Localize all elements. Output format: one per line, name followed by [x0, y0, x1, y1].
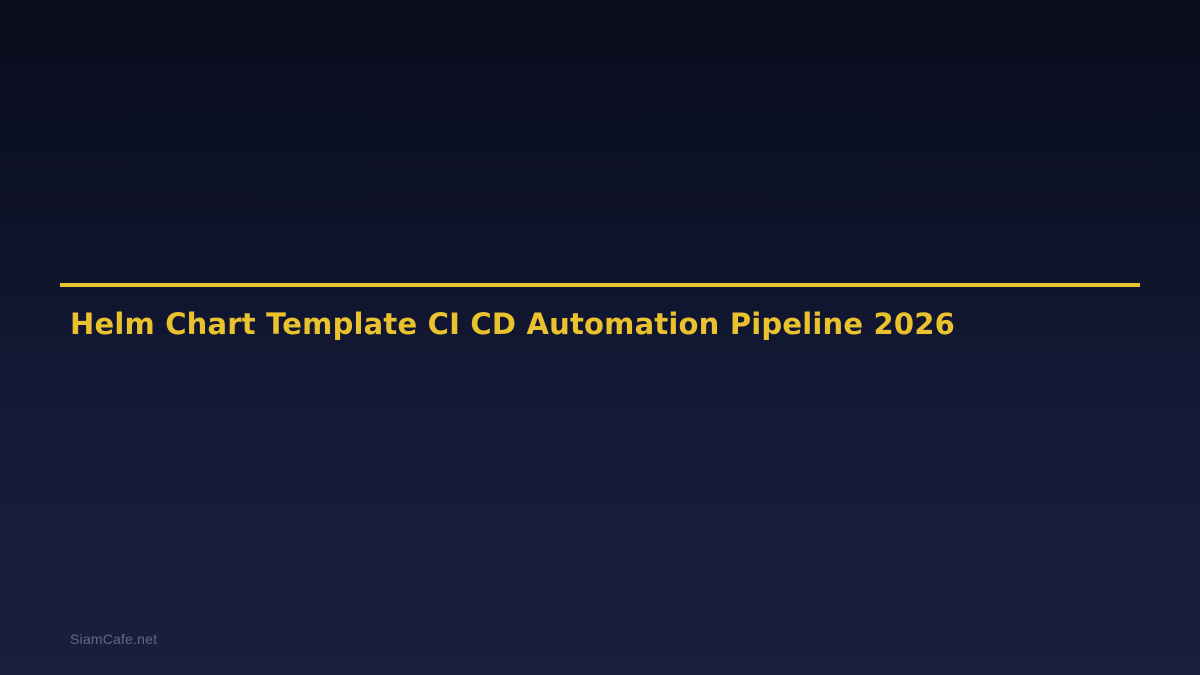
watermark-label: SiamCafe.net — [70, 630, 157, 648]
title-block: Helm Chart Template CI CD Automation Pip… — [60, 283, 1140, 341]
page-title: Helm Chart Template CI CD Automation Pip… — [60, 287, 1140, 341]
slide-canvas: Helm Chart Template CI CD Automation Pip… — [0, 0, 1200, 675]
